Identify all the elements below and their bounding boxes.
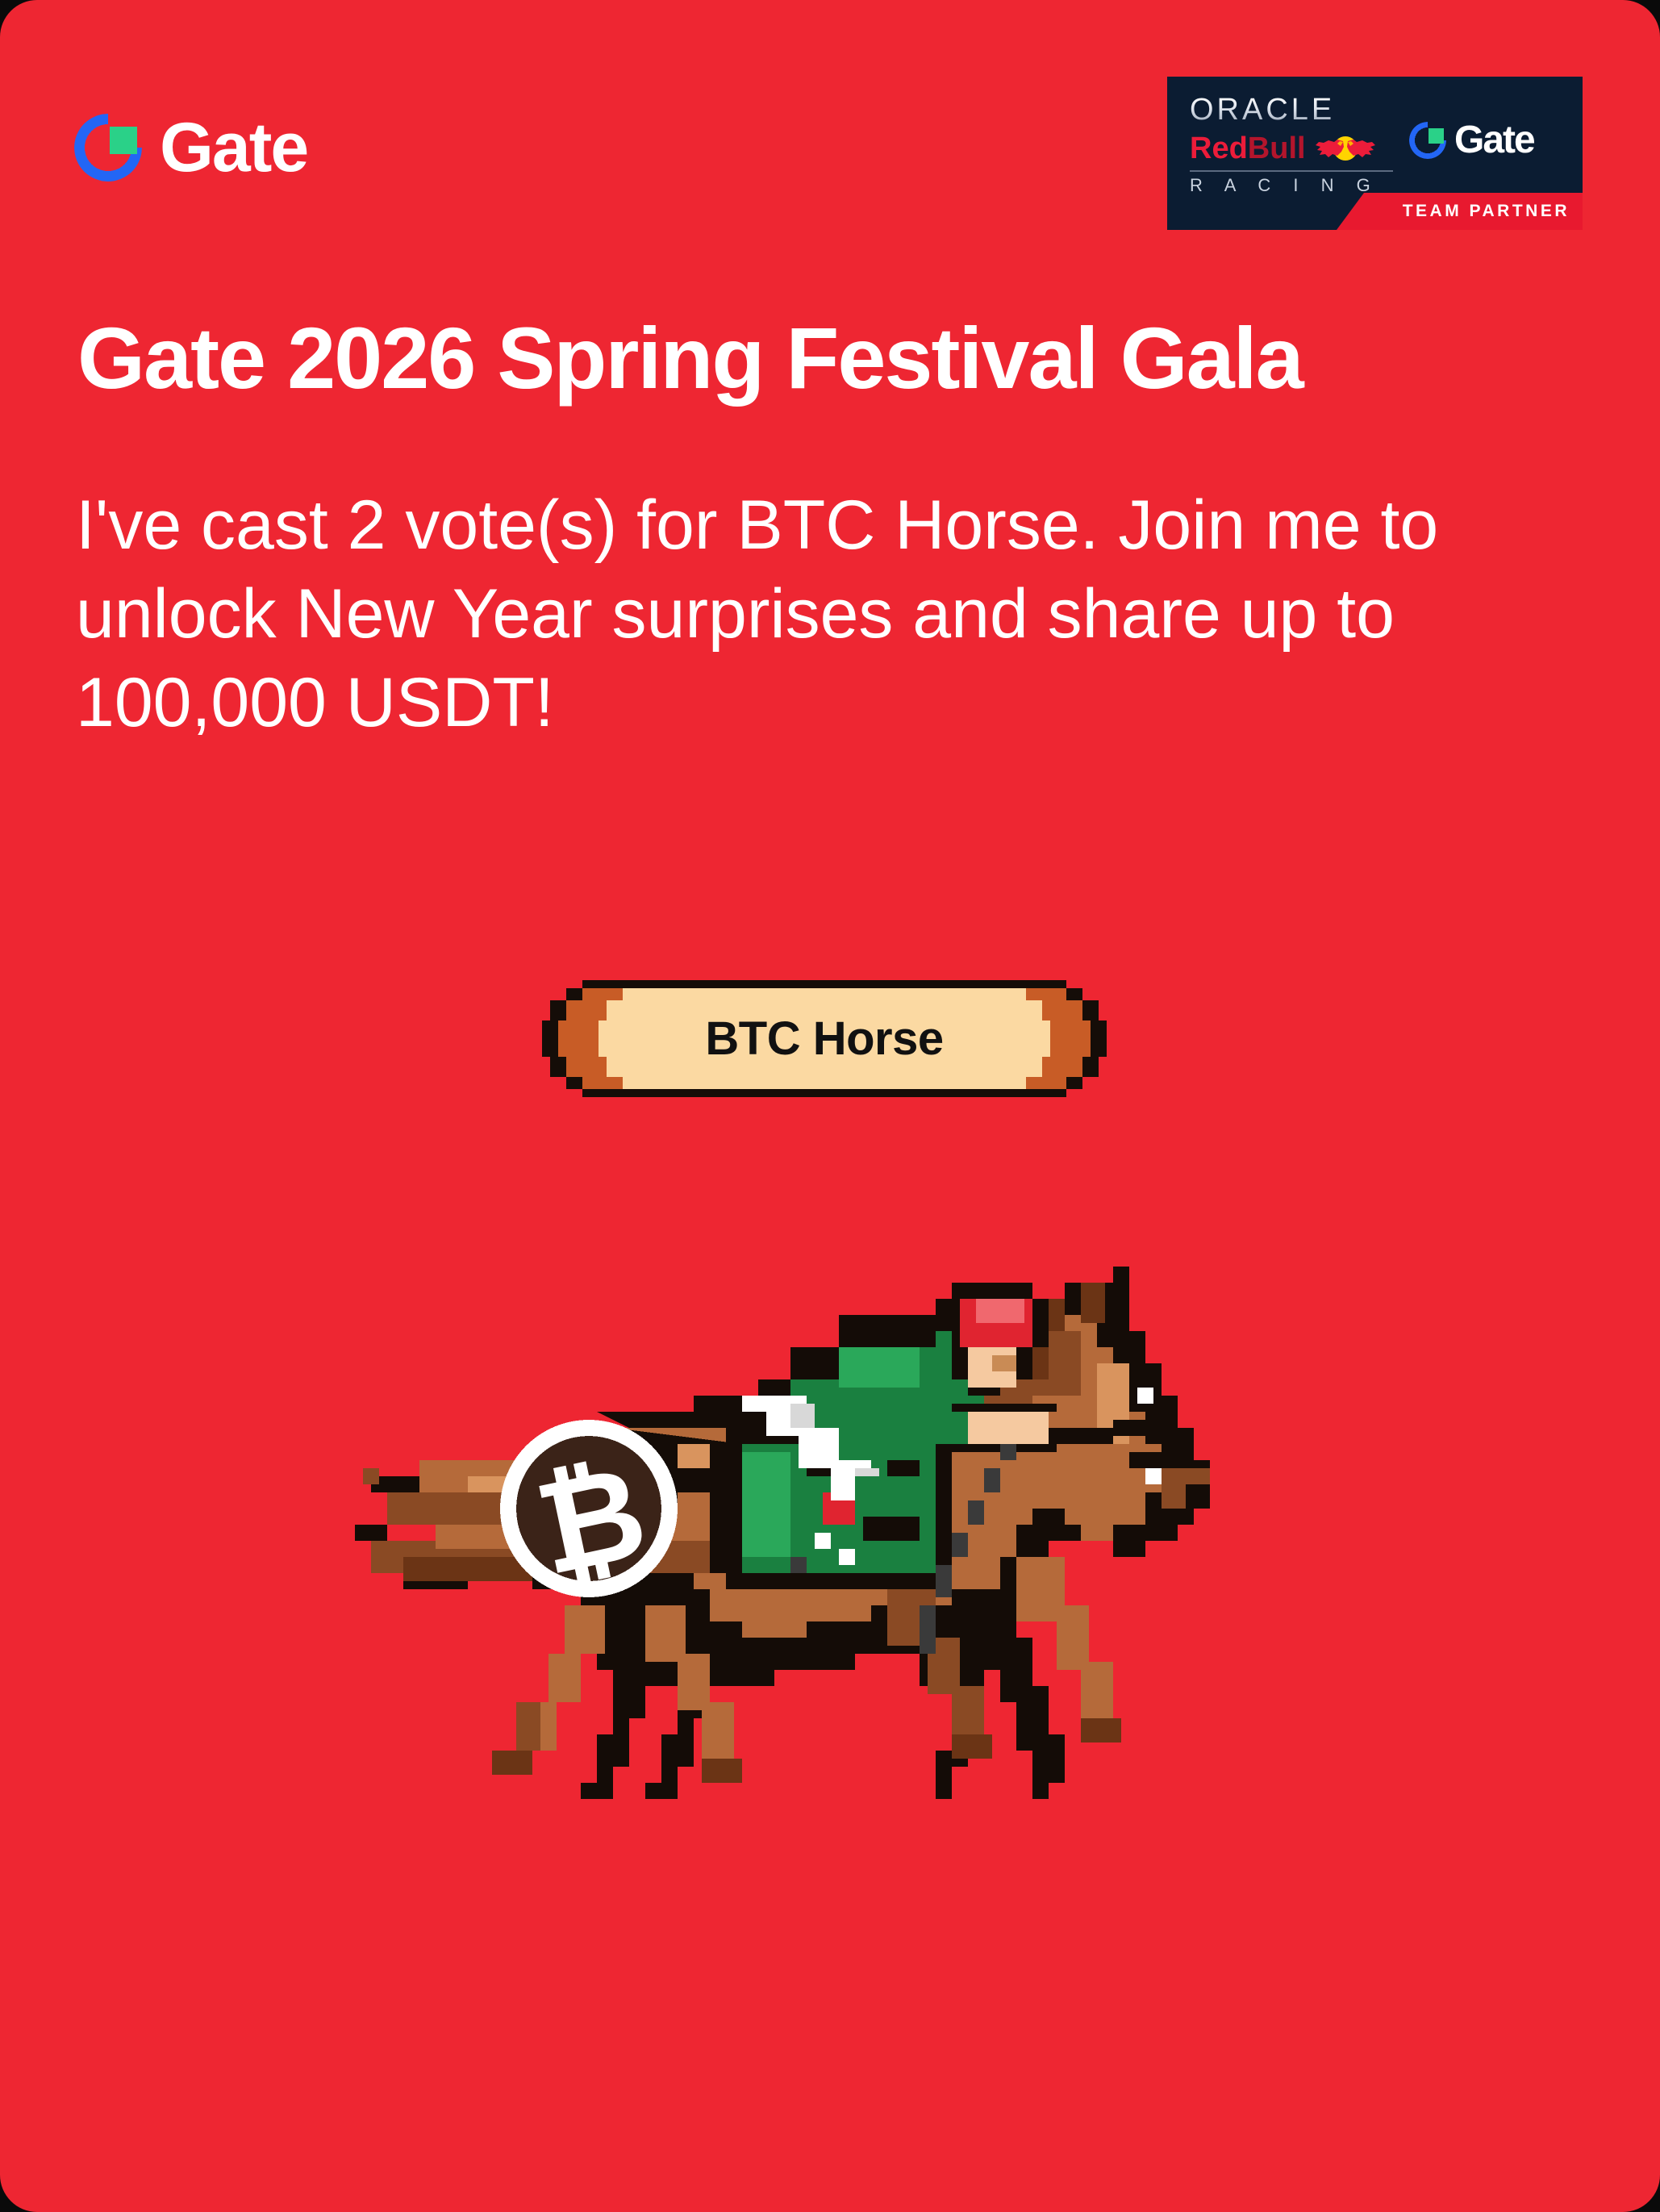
page-title: Gate 2026 Spring Festival Gala	[77, 311, 1529, 407]
horse-eye	[1137, 1388, 1153, 1404]
gate-partner-logo: Gate	[1409, 121, 1534, 160]
gate-partner-wordmark: Gate	[1454, 121, 1534, 160]
red-word: Red	[1190, 131, 1248, 165]
badge-divider	[1190, 170, 1393, 172]
oracle-red-bull-racing-badge: ORACLE RedBull R A C I N G	[1167, 77, 1583, 230]
horse-sprite-svg: ₿	[355, 1202, 1307, 1799]
red-bull-icon	[1311, 132, 1380, 165]
gate-logo-icon-small	[1409, 122, 1446, 159]
gate-square-shape	[110, 127, 137, 154]
btc-horse-pixel-art: ₿	[355, 1202, 1307, 1799]
gate-square-shape-small	[1429, 128, 1444, 144]
oracle-wordmark: ORACLE	[1190, 94, 1391, 125]
gate-logo-icon	[74, 114, 142, 182]
bull-word: Bull	[1248, 131, 1306, 165]
team-partner-banner: TEAM PARTNER	[1337, 193, 1583, 230]
candidate-name-label: BTC Horse	[542, 972, 1107, 1105]
team-partner-label: TEAM PARTNER	[1403, 202, 1570, 221]
red-bull-row: RedBull	[1190, 132, 1391, 165]
card-header: Gate ORACLE RedBull R A C I N G	[0, 0, 1660, 242]
share-message: I've cast 2 vote(s) for BTC Horse. Join …	[76, 481, 1568, 747]
racing-wordmark: R A C I N G	[1190, 177, 1391, 194]
candidate-name-banner: BTC Horse	[542, 972, 1107, 1105]
red-bull-lockup: ORACLE RedBull R A C I N G	[1190, 94, 1391, 194]
share-card: Gate ORACLE RedBull R A C I N G	[0, 0, 1660, 2212]
red-bull-wordmark: RedBull	[1190, 133, 1306, 164]
gate-brand-logo: Gate	[74, 113, 307, 182]
gate-wordmark: Gate	[160, 113, 307, 182]
